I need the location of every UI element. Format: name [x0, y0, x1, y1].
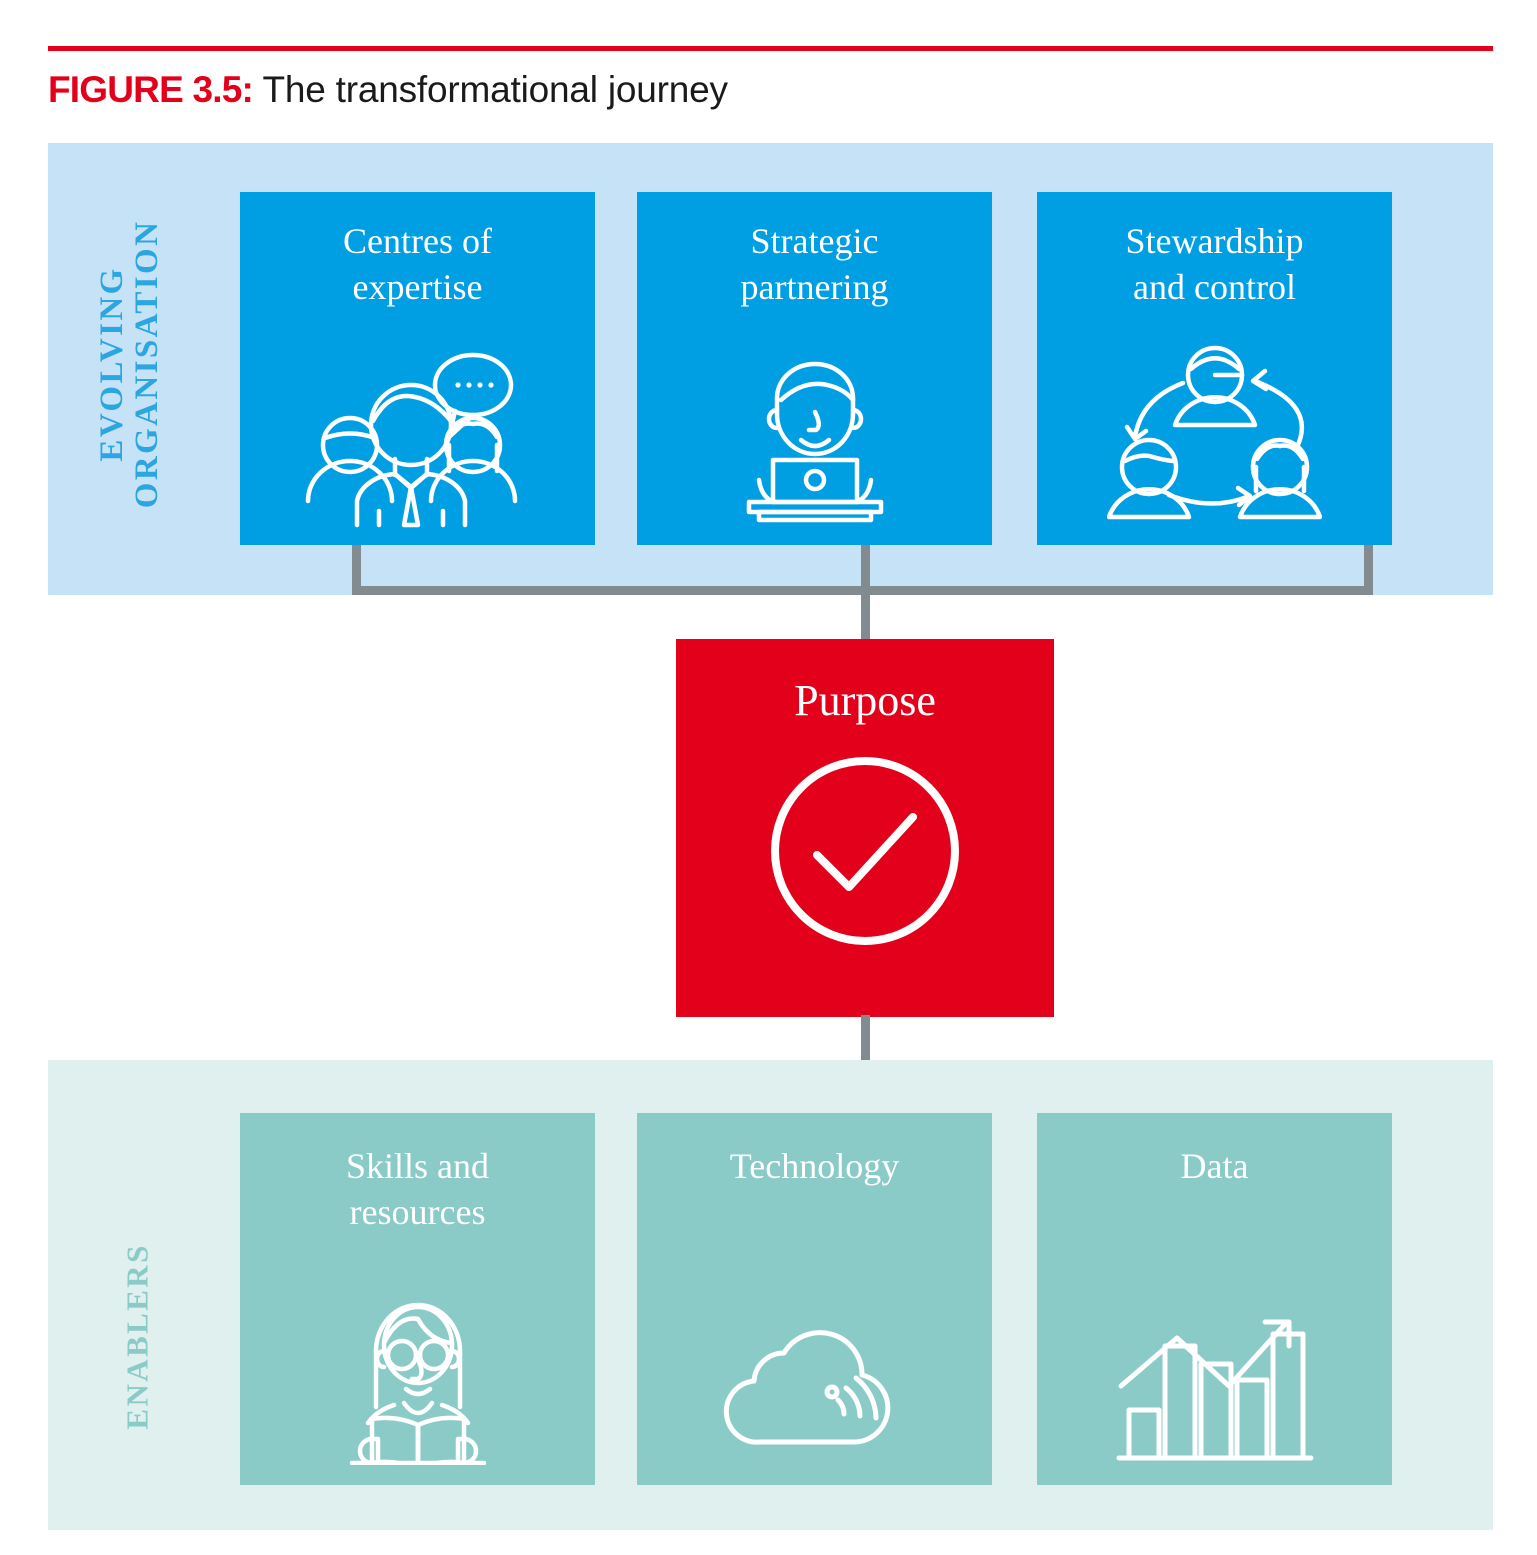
card-technology[interactable]: Technology	[637, 1113, 992, 1485]
card-stewardship-and-control[interactable]: Stewardship and control	[1037, 192, 1392, 545]
figure-caption: FIGURE 3.5: The transformational journey	[48, 62, 728, 118]
figure-title-text: The transformational journey	[253, 69, 728, 110]
bar-chart-trend-arrow-icon	[1037, 1240, 1392, 1465]
card-title: Data	[1037, 1113, 1392, 1189]
figure-top-rule	[48, 46, 1493, 51]
card-title: Technology	[637, 1113, 992, 1189]
people-cycle-arrows-icon	[1037, 319, 1392, 529]
purpose-title: Purpose	[676, 639, 1054, 728]
connector-stub-strategic	[861, 545, 870, 590]
person-reading-book-icon	[240, 1240, 595, 1465]
connector-stub-centres	[352, 545, 361, 590]
card-strategic-partnering[interactable]: Strategic partnering	[637, 192, 992, 545]
enablers-band-label: ENABLERS	[122, 1171, 155, 1501]
card-title: Strategic partnering	[637, 192, 992, 310]
connector-stub-stewardship	[1364, 545, 1373, 590]
card-centres-of-expertise[interactable]: Centres of expertise	[240, 192, 595, 545]
card-data[interactable]: Data	[1037, 1113, 1392, 1485]
card-skills-and-resources[interactable]: Skills and resources	[240, 1113, 595, 1485]
connector-vertical-to-purpose-top	[861, 586, 870, 641]
cloud-wifi-icon	[637, 1240, 992, 1465]
card-title: Stewardship and control	[1037, 192, 1392, 310]
figure-number-label: FIGURE 3.5:	[48, 69, 253, 110]
evolving-organisation-band-label: EVOLVING ORGANISATION	[95, 174, 165, 554]
card-title: Skills and resources	[240, 1113, 595, 1235]
card-title: Centres of expertise	[240, 192, 595, 310]
purpose-card[interactable]: Purpose	[676, 639, 1054, 1017]
person-laptop-icon	[637, 319, 992, 529]
team-speech-bubble-icon	[240, 319, 595, 529]
check-circle-icon	[676, 751, 1054, 951]
